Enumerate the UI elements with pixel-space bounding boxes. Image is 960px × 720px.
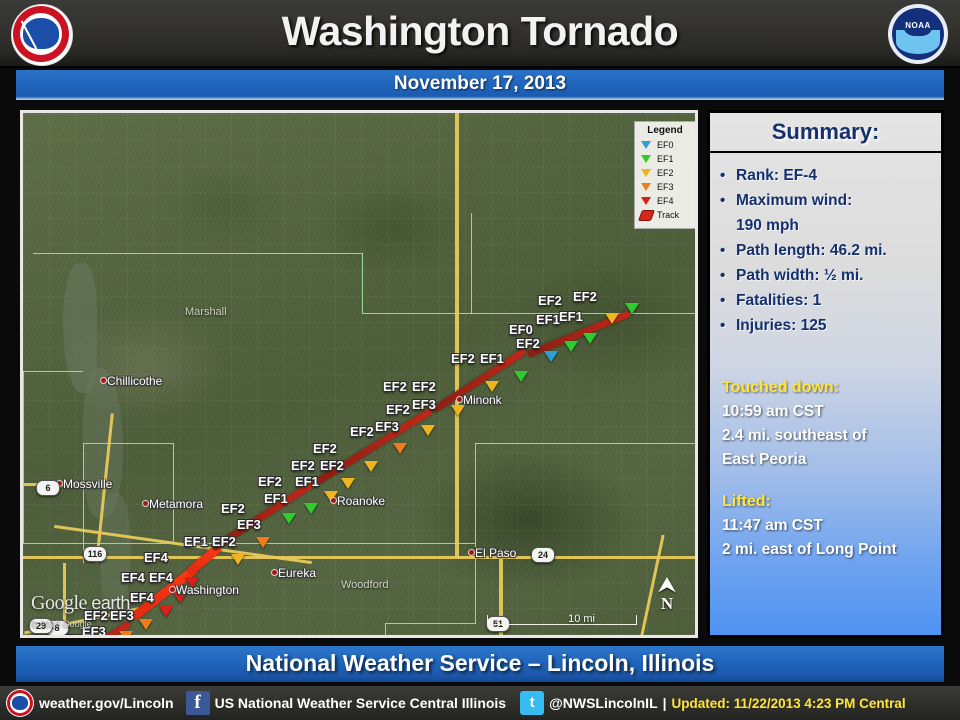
ef-label: EF2 <box>320 458 344 473</box>
bullet-dot-icon: • <box>720 188 736 213</box>
ef1-triangle-icon <box>639 155 653 163</box>
summary-panel: Summary: • Rank: EF-4 • Maximum wind: 19… <box>707 110 944 638</box>
bullet-dot-icon: • <box>720 313 736 338</box>
map-scale-label: 10 mi <box>568 613 595 625</box>
ef-marker-ef3 <box>393 443 407 454</box>
ef-marker-ef2 <box>421 425 435 436</box>
compass-label: N <box>655 595 679 613</box>
legend-label: EF1 <box>657 154 674 164</box>
track-polygon-icon <box>639 210 653 221</box>
county-boundary <box>23 543 475 544</box>
ef-label: EF2 <box>221 501 245 516</box>
route-shield: 24 <box>531 547 555 563</box>
lifted-heading: Lifted: <box>722 490 933 514</box>
ef-marker-ef3 <box>139 619 153 630</box>
route-shield: 6 <box>36 480 60 496</box>
summary-max-wind-value: 190 mph <box>720 213 935 238</box>
ef-marker-ef2 <box>341 478 355 489</box>
highway-route <box>455 113 459 558</box>
county-label: Marshall <box>185 306 227 318</box>
county-boundary <box>385 623 386 638</box>
ef-marker-ef2 <box>605 313 619 324</box>
ef-marker-ef4 <box>159 606 173 617</box>
city-label: Chillicothe <box>107 374 162 388</box>
tornado-track-map[interactable]: EF1 EF2 EF2 EF3 EF2 EF3 EF4 EF4 EF4 EF4 … <box>20 110 698 638</box>
timing-block: Touched down: 10:59 am CST 2.4 mi. south… <box>710 376 941 562</box>
touchdown-location-line1: 2.4 mi. southeast of <box>722 424 933 448</box>
county-label: Woodford <box>341 579 389 591</box>
legend-item-ef3: EF3 <box>639 180 691 194</box>
ef-label: EF2 <box>313 441 337 456</box>
city-label: El Paso <box>475 546 516 560</box>
county-boundary <box>385 623 476 624</box>
map-scale-bar <box>487 615 637 625</box>
lifted-time: 11:47 am CST <box>722 514 933 538</box>
ef-label: EF2 <box>516 336 540 351</box>
county-boundary <box>471 213 472 313</box>
legend-label: EF3 <box>657 182 674 192</box>
twitter-icon[interactable]: t <box>520 691 544 715</box>
touchdown-location-line2: East Peoria <box>722 448 933 472</box>
office-banner: National Weather Service – Lincoln, Illi… <box>16 646 944 682</box>
ef-marker-ef3 <box>256 537 270 548</box>
county-boundary <box>23 371 83 372</box>
county-boundary <box>475 443 698 444</box>
county-boundary <box>23 371 24 543</box>
ef-label: EF2 <box>383 379 407 394</box>
ef-label: EF1 <box>264 491 288 506</box>
ef-label: EF2 <box>386 402 410 417</box>
ef-label: EF3 <box>375 419 399 434</box>
ef-marker-ef3 <box>119 631 133 638</box>
summary-bullet-max-wind: • Maximum wind: <box>720 188 935 213</box>
legend-item-ef4: EF4 <box>639 194 691 208</box>
county-boundary <box>471 313 698 314</box>
ef-label: EF4 <box>144 550 168 565</box>
facebook-icon[interactable]: f <box>186 691 210 715</box>
city-label: Mossville <box>63 477 112 491</box>
website-link[interactable]: weather.gov/Lincoln <box>39 695 174 711</box>
ef-label: EF2 <box>412 379 436 394</box>
legend-label: EF2 <box>657 168 674 178</box>
header-bar: Washington Tornado NOAA <box>0 0 960 68</box>
nws-logo-small-icon <box>6 689 34 717</box>
ef-label: EF2 <box>258 474 282 489</box>
legend-label: EF0 <box>657 140 674 150</box>
ef-label: EF2 <box>350 424 374 439</box>
ef-label: EF2 <box>538 293 562 308</box>
touchdown-heading: Touched down: <box>722 376 933 400</box>
bullet-dot-icon: • <box>720 163 736 188</box>
ef-marker-ef2 <box>364 461 378 472</box>
legend-label: Track <box>657 210 679 220</box>
slide-root: Washington Tornado NOAA November 17, 201… <box>0 0 960 720</box>
legend-item-ef2: EF2 <box>639 166 691 180</box>
ef-marker-ef1 <box>564 341 578 352</box>
legend-item-ef0: EF0 <box>639 138 691 152</box>
ef-label: EF3 <box>237 517 261 532</box>
city-label: Metamora <box>149 497 203 511</box>
summary-bullet-path-width: • Path width: ½ mi. <box>720 263 935 288</box>
footer-links-bar: weather.gov/Lincoln f US National Weathe… <box>0 686 960 720</box>
summary-bullet-fatalities: • Fatalities: 1 <box>720 288 935 313</box>
page-title: Washington Tornado <box>0 0 960 66</box>
ef2-triangle-icon <box>639 169 653 177</box>
compass-north-icon: ⮝ N <box>655 575 679 621</box>
ef3-triangle-icon <box>639 183 653 191</box>
twitter-link[interactable]: @NWSLincolnIL <box>549 695 658 711</box>
ef-label: EF2 <box>291 458 315 473</box>
lifted-location: 2 mi. east of Long Point <box>722 538 933 562</box>
ef-marker-ef0 <box>544 351 558 362</box>
map-legend: Legend EF0 EF1 EF2 EF3 EF4 <box>634 121 696 229</box>
legend-item-ef1: EF1 <box>639 152 691 166</box>
ef-label: EF4 <box>121 570 145 585</box>
ef-label: EF1 <box>184 534 208 549</box>
ef-label: EF2 <box>212 534 236 549</box>
ef-label: EF2 <box>573 289 597 304</box>
ef-marker-ef2 <box>231 554 245 565</box>
summary-bullet-path-length: • Path length: 46.2 mi. <box>720 238 935 263</box>
ef-marker-ef1 <box>282 513 296 524</box>
summary-bullet-list: • Rank: EF-4 • Maximum wind: 190 mph • P… <box>710 153 941 338</box>
ef-marker-ef1 <box>625 303 639 314</box>
ef-marker-ef2 <box>485 381 499 392</box>
ef-marker-ef1 <box>583 333 597 344</box>
summary-heading: Summary: <box>710 113 941 153</box>
ef-label: EF1 <box>536 312 560 327</box>
summary-bullet-injuries: • Injuries: 125 <box>720 313 935 338</box>
county-boundary <box>362 253 363 313</box>
bullet-dot-icon: • <box>720 238 736 263</box>
ef-label: EF0 <box>509 322 533 337</box>
ef-label: EF2 <box>451 351 475 366</box>
ef-label: EF3 <box>412 397 436 412</box>
noaa-logo-icon: NOAA <box>888 4 948 64</box>
county-boundary <box>83 443 84 563</box>
legend-item-track: Track <box>639 208 691 222</box>
highway-route <box>23 556 698 559</box>
google-earth-watermark: Google earth <box>31 592 130 615</box>
touchdown-time: 10:59 am CST <box>722 400 933 424</box>
event-date: November 17, 2013 <box>16 70 944 100</box>
county-boundary <box>173 443 174 543</box>
city-label: Eureka <box>278 566 316 580</box>
ef0-triangle-icon <box>639 141 653 149</box>
updated-timestamp: Updated: 11/22/2013 4:23 PM Central <box>672 696 906 711</box>
legend-label: EF4 <box>657 196 674 206</box>
route-shield: 116 <box>83 546 107 562</box>
ef-label: EF4 <box>130 590 154 605</box>
city-label: Minonk <box>463 393 502 407</box>
county-boundary <box>33 253 363 254</box>
map-copyright: © 2013 Google <box>31 619 92 629</box>
summary-bullet-rank: • Rank: EF-4 <box>720 163 935 188</box>
ef-label: EF1 <box>295 474 319 489</box>
facebook-link[interactable]: US National Weather Service Central Illi… <box>215 695 507 711</box>
ef4-triangle-icon <box>639 197 653 205</box>
city-label: Washington <box>176 583 239 597</box>
bullet-dot-icon: • <box>720 288 736 313</box>
ef-marker-ef1 <box>514 371 528 382</box>
ef-label: EF1 <box>480 351 504 366</box>
county-boundary <box>83 443 173 444</box>
bullet-dot-icon: • <box>720 263 736 288</box>
footer-separator: | <box>663 695 667 711</box>
ef-label: EF1 <box>559 309 583 324</box>
county-boundary <box>475 443 476 543</box>
ef-label: EF4 <box>149 570 173 585</box>
city-label: Roanoke <box>337 494 385 508</box>
legend-title: Legend <box>639 125 691 136</box>
ef-marker-ef1 <box>304 503 318 514</box>
